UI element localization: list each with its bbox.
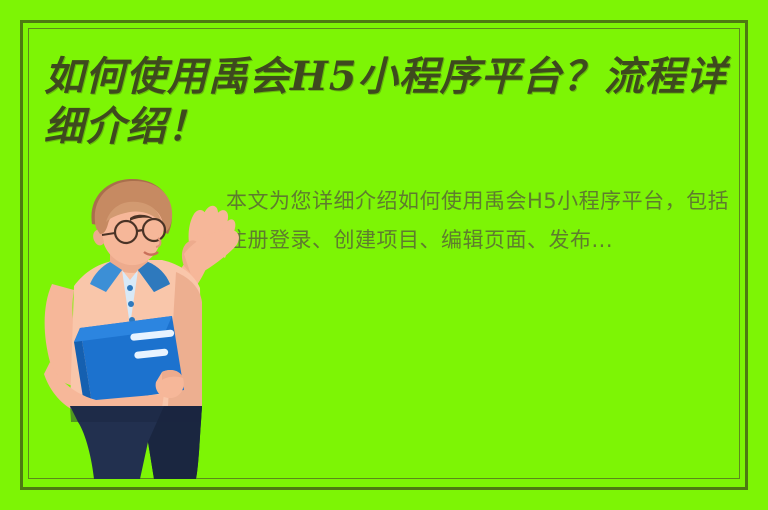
illustration-man-waving — [44, 176, 254, 479]
poster-canvas: 如何使用禹会H5小程序平台？流程详细介绍！ 本文为您详细介绍如何使用禹会H5小程… — [0, 0, 768, 510]
man-waving-holding-folder-icon — [44, 176, 254, 479]
page-title: 如何使用禹会H5小程序平台？流程详细介绍！ — [44, 52, 734, 152]
article-summary: 本文为您详细介绍如何使用禹会H5小程序平台，包括注册登录、创建项目、编辑页面、发… — [226, 182, 734, 260]
